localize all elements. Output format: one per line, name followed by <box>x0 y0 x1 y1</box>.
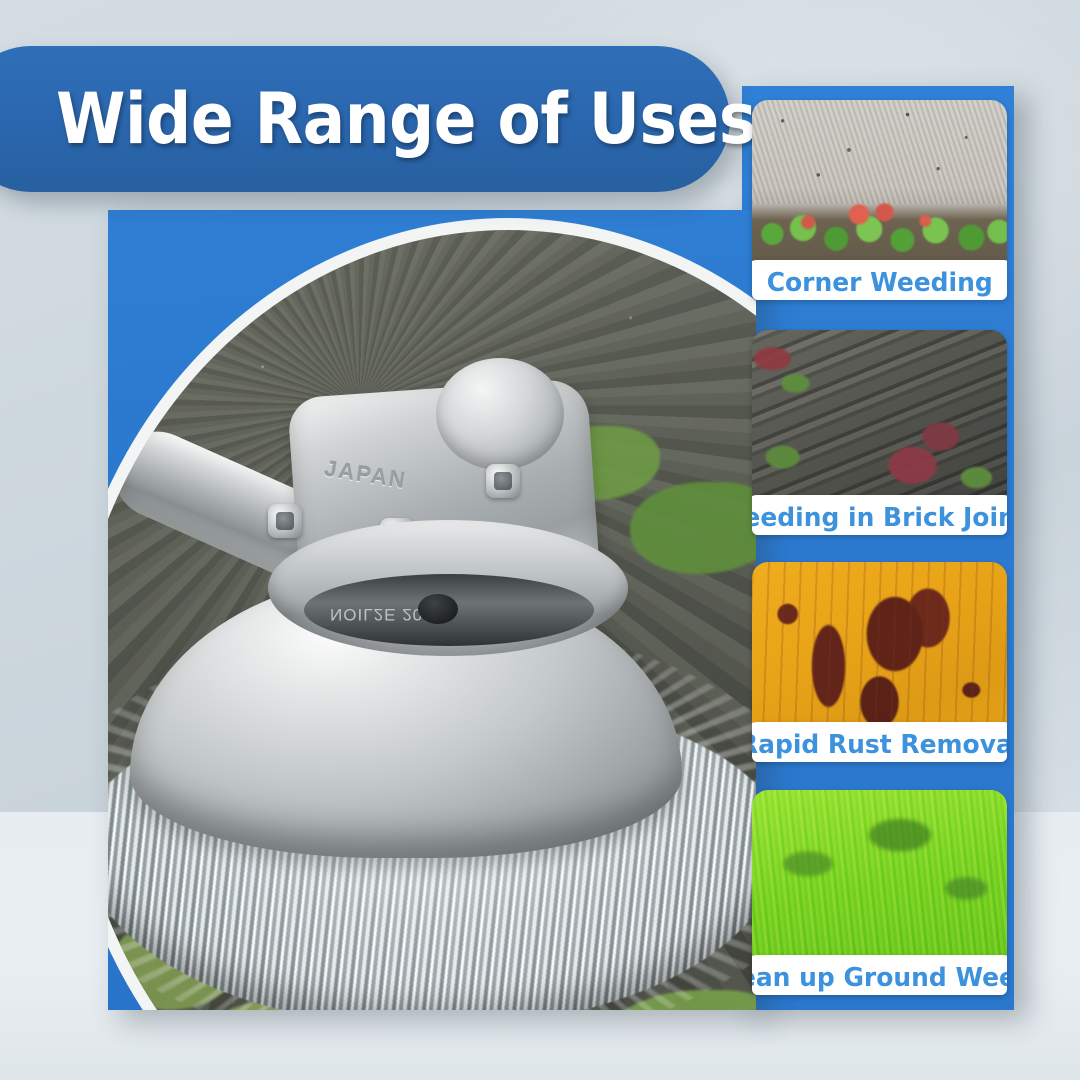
caption-bar: Clean up Ground Weeds <box>752 955 1007 995</box>
title-banner: Wide Range of Uses <box>0 46 730 192</box>
caption-text: Weeding in Brick Joints <box>752 503 1007 533</box>
feature-card-ground-weeds[interactable]: Clean up Ground Weeds <box>752 790 1007 995</box>
caption-text: Rapid Rust Removal <box>752 730 1007 760</box>
flower-accents <box>752 200 1007 236</box>
caption-bar: Rapid Rust Removal <box>752 722 1007 762</box>
feature-card-rust-removal[interactable]: Rapid Rust Removal <box>752 562 1007 762</box>
concrete-texture <box>752 100 1007 204</box>
brush-cutter-head: JAPAN NOIL2E 2080 <box>118 322 738 962</box>
thumbnail-rust-removal: Rapid Rust Removal <box>752 562 1007 762</box>
hex-bolt <box>268 504 302 538</box>
thumbnail-ground-weeds: Clean up Ground Weeds <box>752 790 1007 995</box>
page-title: Wide Range of Uses <box>56 78 756 160</box>
thumbnail-corner-weeding: Corner Weeding <box>752 100 1007 300</box>
thumbnail-brick-joints: Weeding in Brick Joints <box>752 330 1007 535</box>
caption-text: Clean up Ground Weeds <box>752 963 1007 993</box>
caption-bar: Weeding in Brick Joints <box>752 495 1007 535</box>
product-marketing-banner: JAPAN NOIL2E 2080 Wide Range of Uses Cor… <box>0 0 1080 1080</box>
gearbox-cap <box>436 358 564 470</box>
feature-card-corner-weeding[interactable]: Corner Weeding <box>752 100 1007 300</box>
hub-hole <box>418 594 458 624</box>
caption-text: Corner Weeding <box>767 268 993 298</box>
hex-bolt <box>486 464 520 498</box>
feature-card-brick-joints[interactable]: Weeding in Brick Joints <box>752 330 1007 535</box>
product-hero-panel: JAPAN NOIL2E 2080 <box>108 210 756 1010</box>
product-photo: JAPAN NOIL2E 2080 <box>108 230 756 1010</box>
caption-bar: Corner Weeding <box>752 260 1007 300</box>
